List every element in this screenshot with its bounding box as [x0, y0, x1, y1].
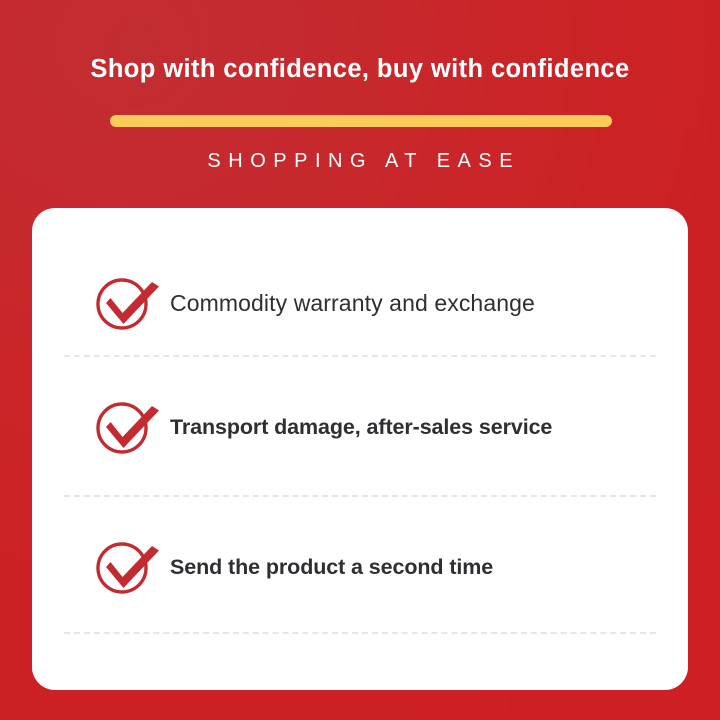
row-divider — [64, 355, 656, 357]
feature-row: Transport damage, after-sales service — [32, 396, 688, 458]
promo-banner: Shop with confidence, buy with confidenc… — [0, 0, 720, 720]
feature-card: Commodity warranty and exchange Transpor… — [32, 208, 688, 690]
check-circle-icon — [96, 396, 170, 458]
feature-row: Send the product a second time — [32, 536, 688, 598]
check-circle-icon — [96, 536, 170, 598]
accent-bar — [110, 115, 612, 127]
feature-row: Commodity warranty and exchange — [32, 272, 688, 334]
banner-subtitle: SHOPPING AT EASE — [0, 148, 720, 174]
page-title: Shop with confidence, buy with confidenc… — [0, 0, 720, 85]
feature-label: Transport damage, after-sales service — [170, 415, 688, 440]
feature-label: Commodity warranty and exchange — [170, 290, 688, 317]
check-circle-icon — [96, 272, 170, 334]
feature-label: Send the product a second time — [170, 555, 688, 580]
row-divider — [64, 632, 656, 634]
banner-header: Shop with confidence, buy with confidenc… — [0, 0, 720, 85]
row-divider — [64, 495, 656, 497]
